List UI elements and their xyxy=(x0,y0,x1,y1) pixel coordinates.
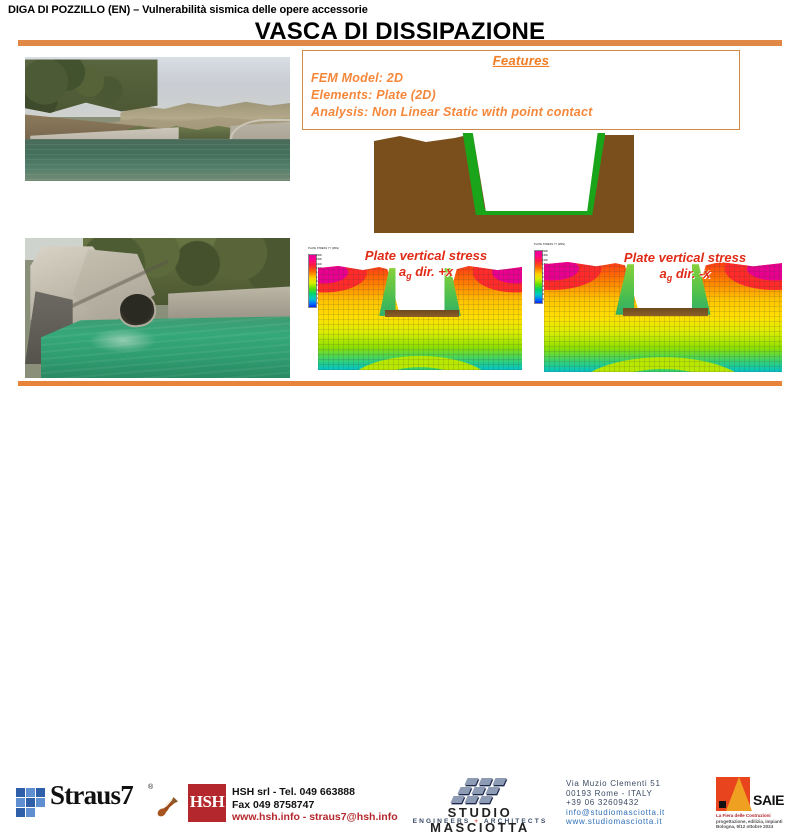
logo-cube xyxy=(478,778,492,785)
footer: Straus7 ® HSH HSH srl - Tel. 049 663888 … xyxy=(0,386,800,450)
studio-address-line1: Via Muzio Clementi 51 xyxy=(566,779,665,789)
straus7-logo-square xyxy=(16,788,25,797)
straus7-logo: Straus7 ® xyxy=(16,782,186,824)
tagline-architects: ARCHITECTS xyxy=(484,818,548,825)
plot-plate-vertical-stress-plus-x: PLATE STRESS YY (MPa) 3.000 2.600 2.200 … xyxy=(300,240,528,378)
saie-wordmark: SAIE xyxy=(753,792,784,808)
straus7-logo-square xyxy=(26,808,35,817)
photo-spillway-chute-outlet-view xyxy=(25,238,290,378)
saie-tagline-line3: Bologna, 9/12 ottobre 2024 xyxy=(716,824,792,830)
mesh-basin-floor xyxy=(623,308,709,316)
page-subtitle: DIGA DI POZZILLO (EN) – Vulnerabilità si… xyxy=(8,4,368,16)
logo-cube xyxy=(485,787,499,794)
hsh-link-separator: - xyxy=(300,811,309,823)
logo-cube xyxy=(464,796,478,803)
legend-title: PLATE STRESS YY (MPa) xyxy=(308,247,339,250)
straus7-logo-square xyxy=(16,798,25,807)
plot-caption: Plate vertical stress ag dir. +x xyxy=(336,248,516,284)
straus7-wordmark: Straus7 xyxy=(50,780,133,811)
mesh-basin-floor xyxy=(385,310,458,317)
hsh-fax-line: Fax 049 8758747 xyxy=(232,799,398,812)
fem-geometry-basin-section xyxy=(374,133,634,233)
hsh-phone-line: HSH srl - Tel. 049 663888 xyxy=(232,786,398,799)
legend-title: PLATE STRESS YY (MPa) xyxy=(534,243,565,246)
logo-cube xyxy=(471,787,485,794)
plot-caption-line1: Plate vertical stress xyxy=(624,250,746,265)
studio-phone: +39 06 32609432 xyxy=(566,798,665,808)
photo-stilling-basin-upstream-view xyxy=(25,57,290,181)
straus7-logo-square xyxy=(26,798,35,807)
tagline-engineers: ENGINEERS xyxy=(413,818,471,825)
studio-address-line2: 00193 Rome - ITALY xyxy=(566,789,665,799)
photo-water-foam xyxy=(89,328,158,353)
features-panel: Features FEM Model: 2D Elements: Plate (… xyxy=(302,50,740,130)
logo-cube xyxy=(492,778,506,785)
saie-logo-triangle xyxy=(726,777,752,811)
header-divider-bar xyxy=(18,40,782,46)
features-item-fem-model: FEM Model: 2D xyxy=(311,70,592,87)
features-title: Features xyxy=(303,53,739,68)
plot-caption-variable: a xyxy=(659,266,666,281)
photo-basin-water xyxy=(25,139,290,181)
features-item-elements: Elements: Plate (2D) xyxy=(311,87,592,104)
features-item-analysis: Analysis: Non Linear Static with point c… xyxy=(311,104,592,121)
violin-icon xyxy=(154,795,180,817)
plus-icon: + xyxy=(474,818,480,825)
logo-cube xyxy=(478,796,492,803)
saie-logo-dot xyxy=(719,801,726,808)
straus7-logo-square xyxy=(26,788,35,797)
studio-website-link[interactable]: www.studiomasciotta.it xyxy=(566,817,665,827)
studio-email-link[interactable]: info@studiomasciotta.it xyxy=(566,808,665,818)
fem-basin-void xyxy=(468,133,598,211)
hsh-contact-info: HSH srl - Tel. 049 663888 Fax 049 875874… xyxy=(232,786,398,824)
straus7-logo-square xyxy=(16,808,25,817)
plot-caption-line2: dir. -x xyxy=(672,266,710,281)
photo-basin-water xyxy=(41,316,290,378)
features-list: FEM Model: 2D Elements: Plate (2D) Analy… xyxy=(311,70,592,121)
straus7-logo-square xyxy=(36,788,45,797)
logo-cube xyxy=(450,796,464,803)
plot-caption: Plate vertical stress ag dir. -x xyxy=(590,250,780,286)
studio-masciotta-contact-info: Via Muzio Clementi 51 00193 Rome - ITALY… xyxy=(566,779,665,827)
hsh-website-link[interactable]: www.hsh.info xyxy=(232,811,300,823)
logo-cube xyxy=(464,778,478,785)
plot-caption-line1: Plate vertical stress xyxy=(365,248,487,263)
saie-logo: SAIE La Fiera delle Costruzioni progetta… xyxy=(716,777,792,831)
saie-tagline: La Fiera delle Costruzioni progettazione… xyxy=(716,813,792,830)
hsh-wordmark: HSH xyxy=(188,792,226,812)
studio-masciotta-logo-icon xyxy=(452,778,508,804)
straus7-logo-square xyxy=(36,798,45,807)
hsh-logo: HSH xyxy=(188,784,226,822)
studio-masciotta-tagline: ENGINEERS + ARCHITECTS xyxy=(400,818,560,825)
plot-caption-line2: dir. +x xyxy=(412,264,454,279)
logo-cube xyxy=(457,787,471,794)
registered-mark-icon: ® xyxy=(148,784,153,791)
plot-plate-vertical-stress-minus-x: PLATE STRESS YY (MPa) 3.000 2.600 2.200 … xyxy=(528,240,790,378)
hsh-email-link[interactable]: straus7@hsh.info xyxy=(309,811,397,823)
plot-caption-variable: a xyxy=(399,264,406,279)
